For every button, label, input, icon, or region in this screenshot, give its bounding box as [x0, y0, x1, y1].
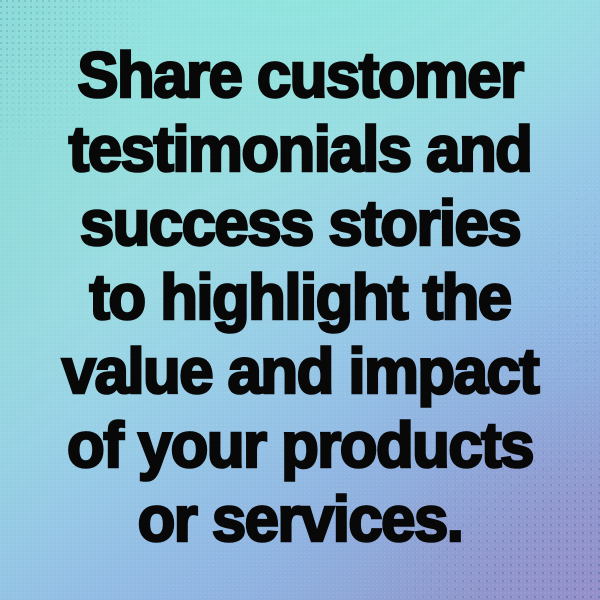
quote-line-5: value and impact	[20, 334, 580, 408]
quote-line-1: Share customer	[20, 38, 580, 112]
quote-line-4: to highlight the	[20, 260, 580, 334]
quote-line-6: of your products	[20, 408, 580, 482]
quote-graphic-canvas: Share customer testimonials and success …	[0, 0, 600, 600]
quote-text-block: Share customer testimonials and success …	[0, 0, 600, 600]
quote-line-7: or services.	[20, 482, 580, 556]
quote-line-2: testimonials and	[20, 112, 580, 186]
quote-line-3: success stories	[20, 186, 580, 260]
